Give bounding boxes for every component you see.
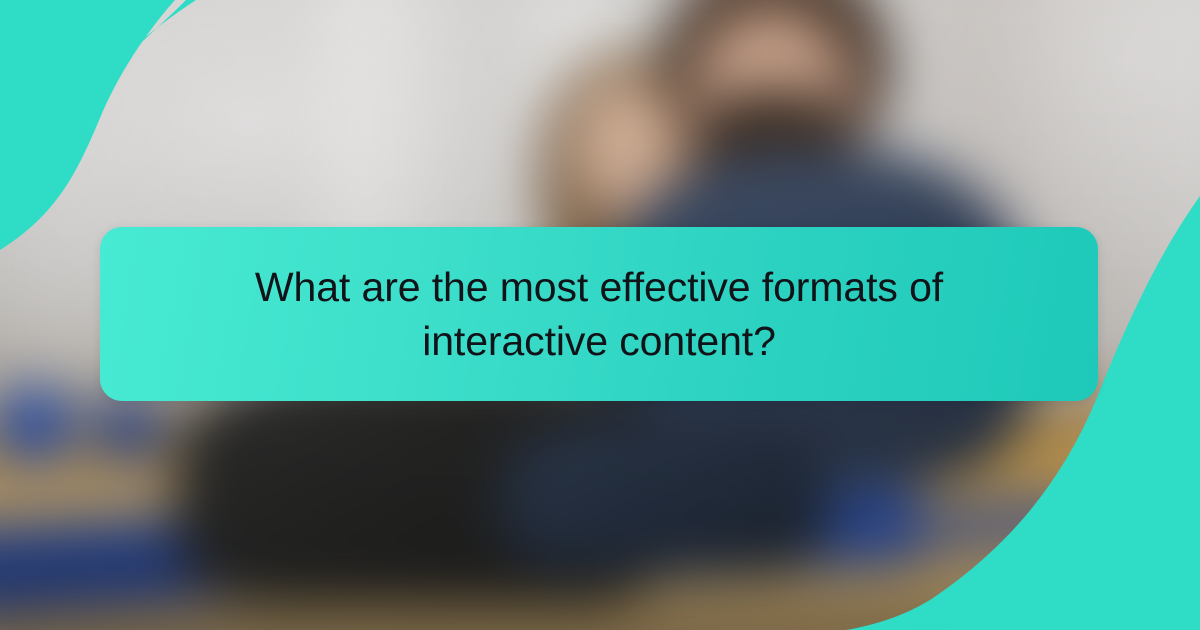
- share-card-canvas: What are the most effective formats of i…: [0, 0, 1200, 630]
- question-text: What are the most effective formats of i…: [219, 260, 979, 368]
- question-card: What are the most effective formats of i…: [100, 227, 1098, 401]
